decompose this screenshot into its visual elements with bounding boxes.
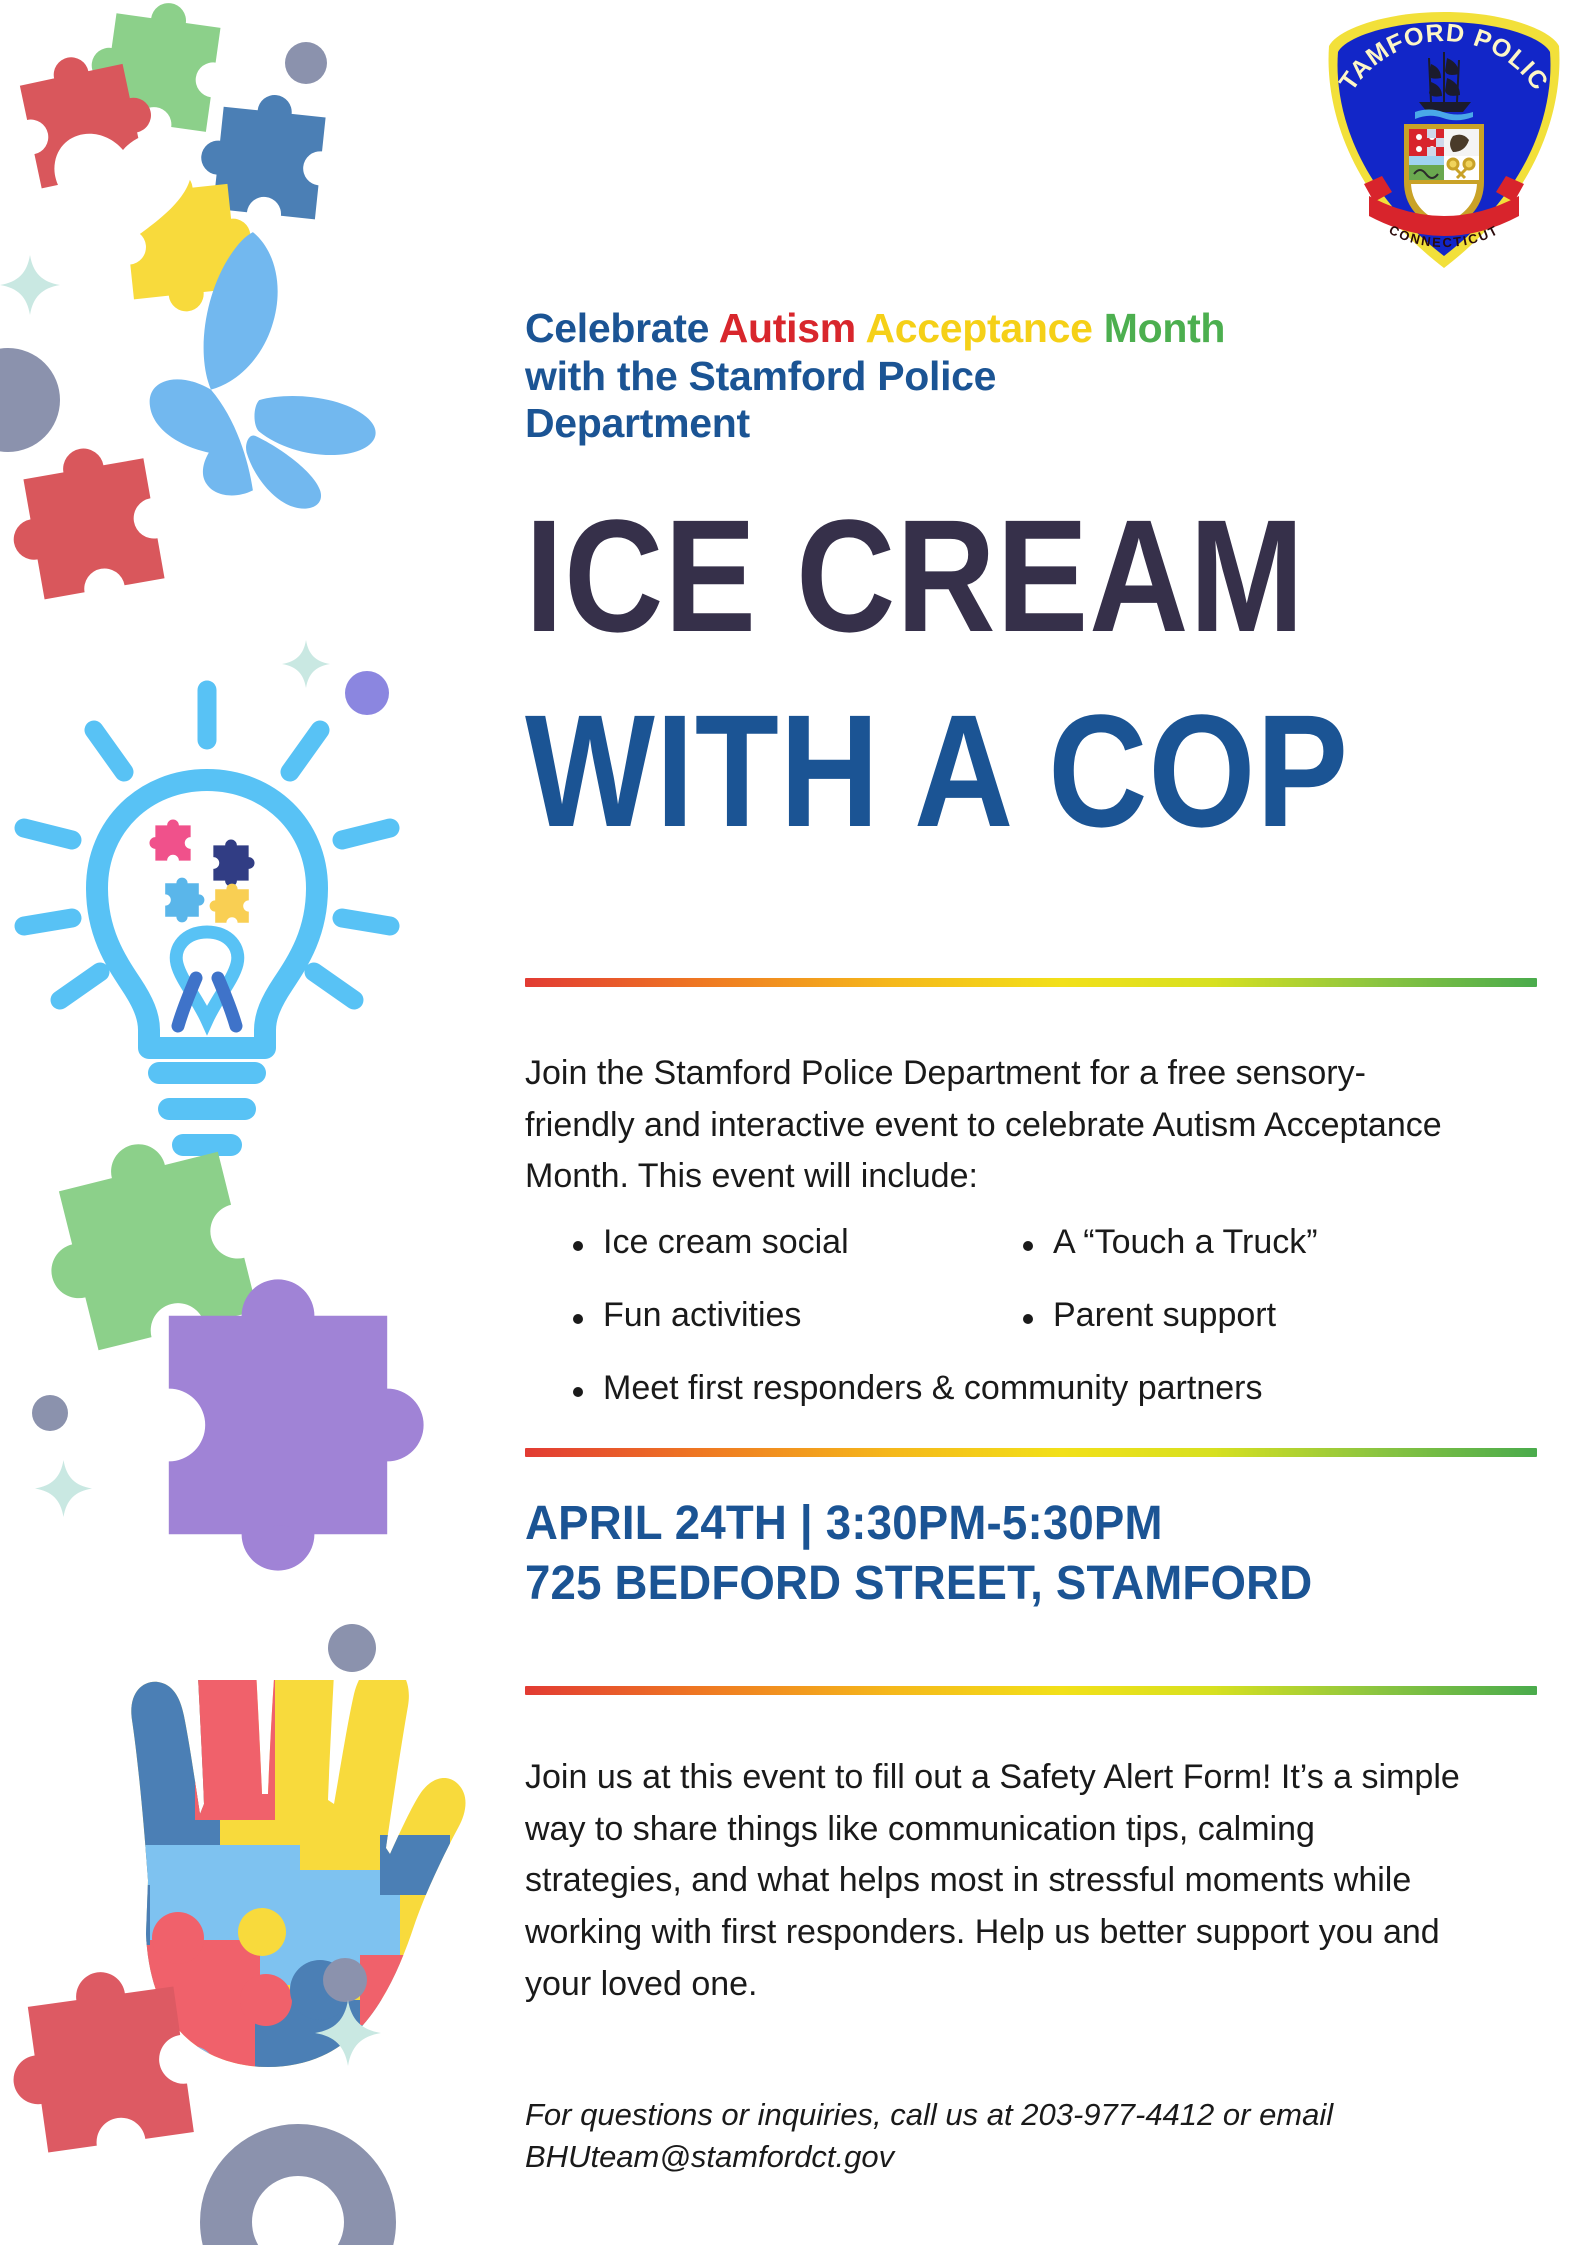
dot-gray-2 bbox=[0, 348, 60, 452]
dot-gray-4 bbox=[328, 1624, 376, 1672]
bullet-row-1: Ice cream social A “Touch a Truck” bbox=[525, 1222, 1495, 1263]
kicker-heading: Celebrate Autism Acceptance Month with t… bbox=[525, 305, 1555, 448]
event-features-list: Ice cream social A “Touch a Truck” Fun a… bbox=[525, 1222, 1495, 1440]
bullet-row-3: Meet first responders & community partne… bbox=[525, 1368, 1495, 1409]
bullet-text: Meet first responders & community partne… bbox=[603, 1368, 1262, 1409]
list-item: Meet first responders & community partne… bbox=[525, 1368, 1473, 1409]
bulb-puzzle-blue bbox=[165, 878, 204, 923]
puzzle-piece-red-2 bbox=[0, 438, 165, 603]
kicker-acceptance: Acceptance bbox=[865, 305, 1092, 351]
kicker-line-3: Department bbox=[525, 400, 750, 446]
dot-purple-1 bbox=[345, 671, 389, 715]
bulb-puzzle-navy bbox=[213, 839, 254, 886]
puzzle-cluster-top bbox=[16, 0, 327, 317]
list-item: A “Touch a Truck” bbox=[1013, 1222, 1463, 1263]
bullet-text: Ice cream social bbox=[603, 1222, 849, 1263]
dot-gray-1 bbox=[285, 42, 327, 84]
event-title: ICE CREAM WITH A COP bbox=[525, 498, 1555, 850]
title-line-2: WITH A COP bbox=[525, 693, 1411, 850]
bullet-dot-icon bbox=[573, 1241, 583, 1251]
kicker-line-2: with the Stamford Police bbox=[525, 353, 996, 399]
bullet-dot-icon bbox=[1023, 1314, 1033, 1324]
lightbulb-rays bbox=[24, 690, 390, 1000]
event-date-time: APRIL 24TH | 3:30PM-5:30PM bbox=[525, 1494, 1494, 1554]
flyer-content: Celebrate Autism Acceptance Month with t… bbox=[525, 0, 1545, 2245]
bullet-text: Parent support bbox=[1053, 1295, 1276, 1336]
bullet-row-2: Fun activities Parent support bbox=[525, 1295, 1495, 1336]
bulb-base-1 bbox=[148, 1062, 266, 1084]
intro-paragraph: Join the Stamford Police Department for … bbox=[525, 1048, 1475, 1203]
ring-gray bbox=[226, 2150, 370, 2245]
rainbow-divider-1 bbox=[525, 978, 1537, 987]
bullet-dot-icon bbox=[1023, 1241, 1033, 1251]
dot-purple-2 bbox=[260, 1525, 300, 1565]
bullet-dot-icon bbox=[573, 1314, 583, 1324]
list-item: Fun activities bbox=[525, 1295, 1013, 1336]
bulb-base-3 bbox=[172, 1134, 242, 1156]
list-item: Parent support bbox=[1013, 1295, 1463, 1336]
bullet-dot-icon bbox=[573, 1387, 583, 1397]
sparkle-1 bbox=[0, 255, 60, 315]
safety-alert-paragraph: Join us at this event to fill out a Safe… bbox=[525, 1752, 1465, 2010]
rainbow-divider-2 bbox=[525, 1448, 1537, 1457]
puzzle-piece-purple bbox=[169, 1279, 424, 1570]
kicker-month: Month bbox=[1104, 305, 1225, 351]
bulb-base-2 bbox=[158, 1098, 256, 1120]
lightbulb-illustration bbox=[24, 640, 390, 1156]
sparkle-3 bbox=[35, 1460, 92, 1517]
bullet-text: Fun activities bbox=[603, 1295, 801, 1336]
awareness-ribbon-icon bbox=[176, 932, 238, 1026]
event-address: 725 BEDFORD STREET, STAMFORD bbox=[525, 1554, 1494, 1614]
bullet-text: A “Touch a Truck” bbox=[1053, 1222, 1318, 1263]
event-details: APRIL 24TH | 3:30PM-5:30PM 725 BEDFORD S… bbox=[525, 1494, 1545, 1614]
kicker-space-2 bbox=[1093, 305, 1104, 351]
rainbow-divider-3 bbox=[525, 1686, 1537, 1695]
dot-gray-3 bbox=[32, 1395, 68, 1431]
kicker-celebrate: Celebrate bbox=[525, 305, 719, 351]
contact-footer: For questions or inquiries, call us at 2… bbox=[525, 2094, 1485, 2178]
bulb-puzzle-yellow bbox=[210, 884, 249, 923]
title-line-1: ICE CREAM bbox=[525, 498, 1411, 655]
bulb-puzzle-pink bbox=[149, 819, 190, 860]
decorative-illustration-column bbox=[0, 0, 470, 2245]
puzzle-piece-red-3 bbox=[0, 1962, 194, 2156]
list-item: Ice cream social bbox=[525, 1222, 1013, 1263]
sparkle-2 bbox=[282, 640, 330, 688]
kicker-autism: Autism bbox=[719, 305, 856, 351]
